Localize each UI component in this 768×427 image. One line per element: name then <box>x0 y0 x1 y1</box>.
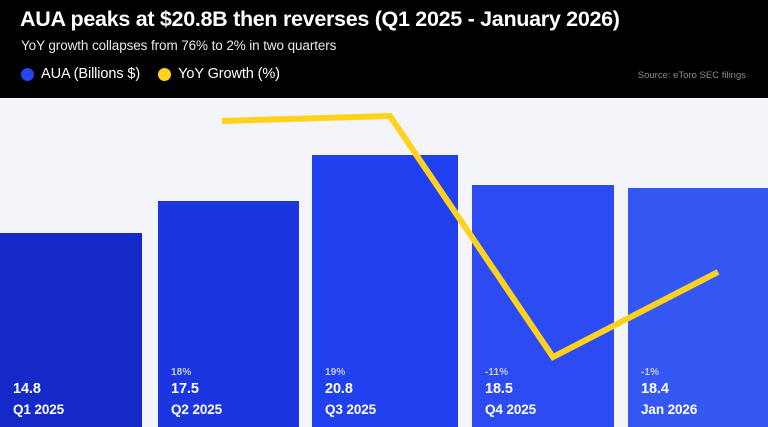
chart-header: AUA peaks at $20.8B then reverses (Q1 20… <box>0 0 768 98</box>
page-title: AUA peaks at $20.8B then reverses (Q1 20… <box>20 7 620 32</box>
legend-item-yoy-growth[interactable]: YoY Growth (%) <box>158 66 280 82</box>
legend-label-yoy-growth: YoY Growth (%) <box>178 66 280 82</box>
chart-page: AUA peaks at $20.8B then reverses (Q1 20… <box>0 0 768 427</box>
yoy-growth-line <box>0 98 768 427</box>
source-attribution: Source: eToro SEC filings <box>638 70 746 81</box>
page-subtitle: YoY growth collapses from 76% to 2% in t… <box>21 38 336 53</box>
plot-area: 14.8 Q1 2025 18% 17.5 Q2 2025 19% 20.8 Q… <box>0 98 768 427</box>
chart-legend: AUA (Billions $) YoY Growth (%) <box>21 66 280 82</box>
legend-item-aua[interactable]: AUA (Billions $) <box>21 66 140 82</box>
legend-dot-icon-aua <box>21 68 34 81</box>
legend-dot-icon-yoy-growth <box>158 68 171 81</box>
legend-label-aua: AUA (Billions $) <box>41 66 140 82</box>
